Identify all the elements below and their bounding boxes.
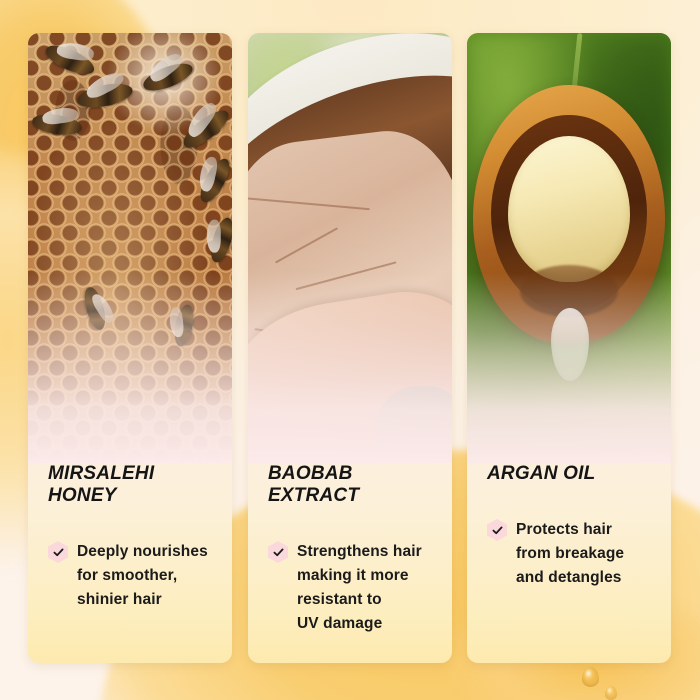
ingredient-card-argan-oil[interactable]: ARGAN OIL Protects hair from breakage an…	[467, 33, 671, 663]
ingredient-card-mirsalehi-honey[interactable]: MIRSALEHI HONEY Deeply nourishes for smo…	[28, 33, 232, 663]
ingredient-benefits-banner: MIRSALEHI HONEY Deeply nourishes for smo…	[0, 0, 700, 700]
check-icon	[268, 541, 288, 563]
benefit-list: Strengthens hair making it more resistan…	[268, 540, 432, 636]
ingredient-title: ARGAN OIL	[487, 463, 651, 485]
check-icon	[487, 519, 507, 541]
benefit-list: Protects hair from breakage and detangle…	[487, 518, 651, 590]
ingredient-card-list: MIRSALEHI HONEY Deeply nourishes for smo…	[0, 0, 700, 700]
benefit-item: Protects hair from breakage and detangle…	[487, 518, 651, 590]
honeycomb-with-bees-photo	[28, 33, 232, 463]
card-text-block: BAOBAB EXTRACT Strengthens hair making i…	[248, 463, 452, 636]
ingredient-title: BAOBAB EXTRACT	[268, 463, 432, 507]
card-text-block: ARGAN OIL Protects hair from breakage an…	[467, 463, 671, 590]
benefit-list: Deeply nourishes for smoother, shinier h…	[48, 540, 212, 612]
benefit-item: Deeply nourishes for smoother, shinier h…	[48, 540, 212, 612]
benefit-item: Strengthens hair making it more resistan…	[268, 540, 432, 636]
ingredient-card-baobab-extract[interactable]: BAOBAB EXTRACT Strengthens hair making i…	[248, 33, 452, 663]
benefit-text: Protects hair from breakage and detangle…	[516, 518, 624, 590]
argan-nut-with-oil-drop-photo	[467, 33, 671, 463]
baobab-fruit-cross-section-photo	[248, 33, 452, 463]
check-icon	[48, 541, 68, 563]
benefit-text: Deeply nourishes for smoother, shinier h…	[77, 540, 208, 612]
ingredient-title: MIRSALEHI HONEY	[48, 463, 212, 507]
benefit-text: Strengthens hair making it more resistan…	[297, 540, 422, 636]
card-text-block: MIRSALEHI HONEY Deeply nourishes for smo…	[28, 463, 232, 612]
